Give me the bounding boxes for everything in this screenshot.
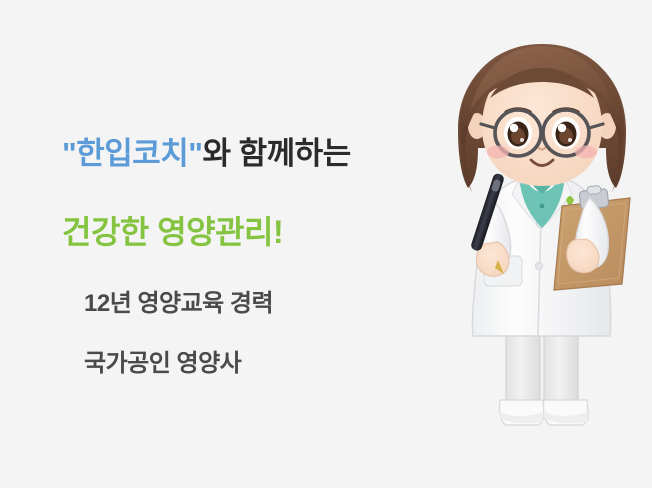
- credential-item-2: 국가공인 영양사: [84, 343, 241, 378]
- shoes-group: [500, 400, 589, 425]
- headline-line: "한입코치"와 함께하는: [62, 128, 351, 173]
- quote-close-mark: ": [188, 136, 202, 171]
- headline-suffix: 와 함께하는: [203, 136, 351, 171]
- blush-left: [487, 146, 509, 159]
- nutritionist-character-illustration: [414, 28, 652, 448]
- headline-copy-block: "한입코치"와 함께하는 건강한 영양관리! 12년 영양교육 경력 국가공인 …: [0, 0, 430, 488]
- blush-right: [575, 146, 597, 159]
- quote-open-mark: ": [62, 136, 76, 171]
- subheadline: 건강한 영양관리!: [62, 207, 283, 253]
- credential-item-1: 12년 영양교육 경력: [84, 283, 273, 318]
- promo-poster: "한입코치"와 함께하는 건강한 영양관리! 12년 영양교육 경력 국가공인 …: [0, 0, 652, 488]
- brand-name: 한입코치: [76, 136, 188, 171]
